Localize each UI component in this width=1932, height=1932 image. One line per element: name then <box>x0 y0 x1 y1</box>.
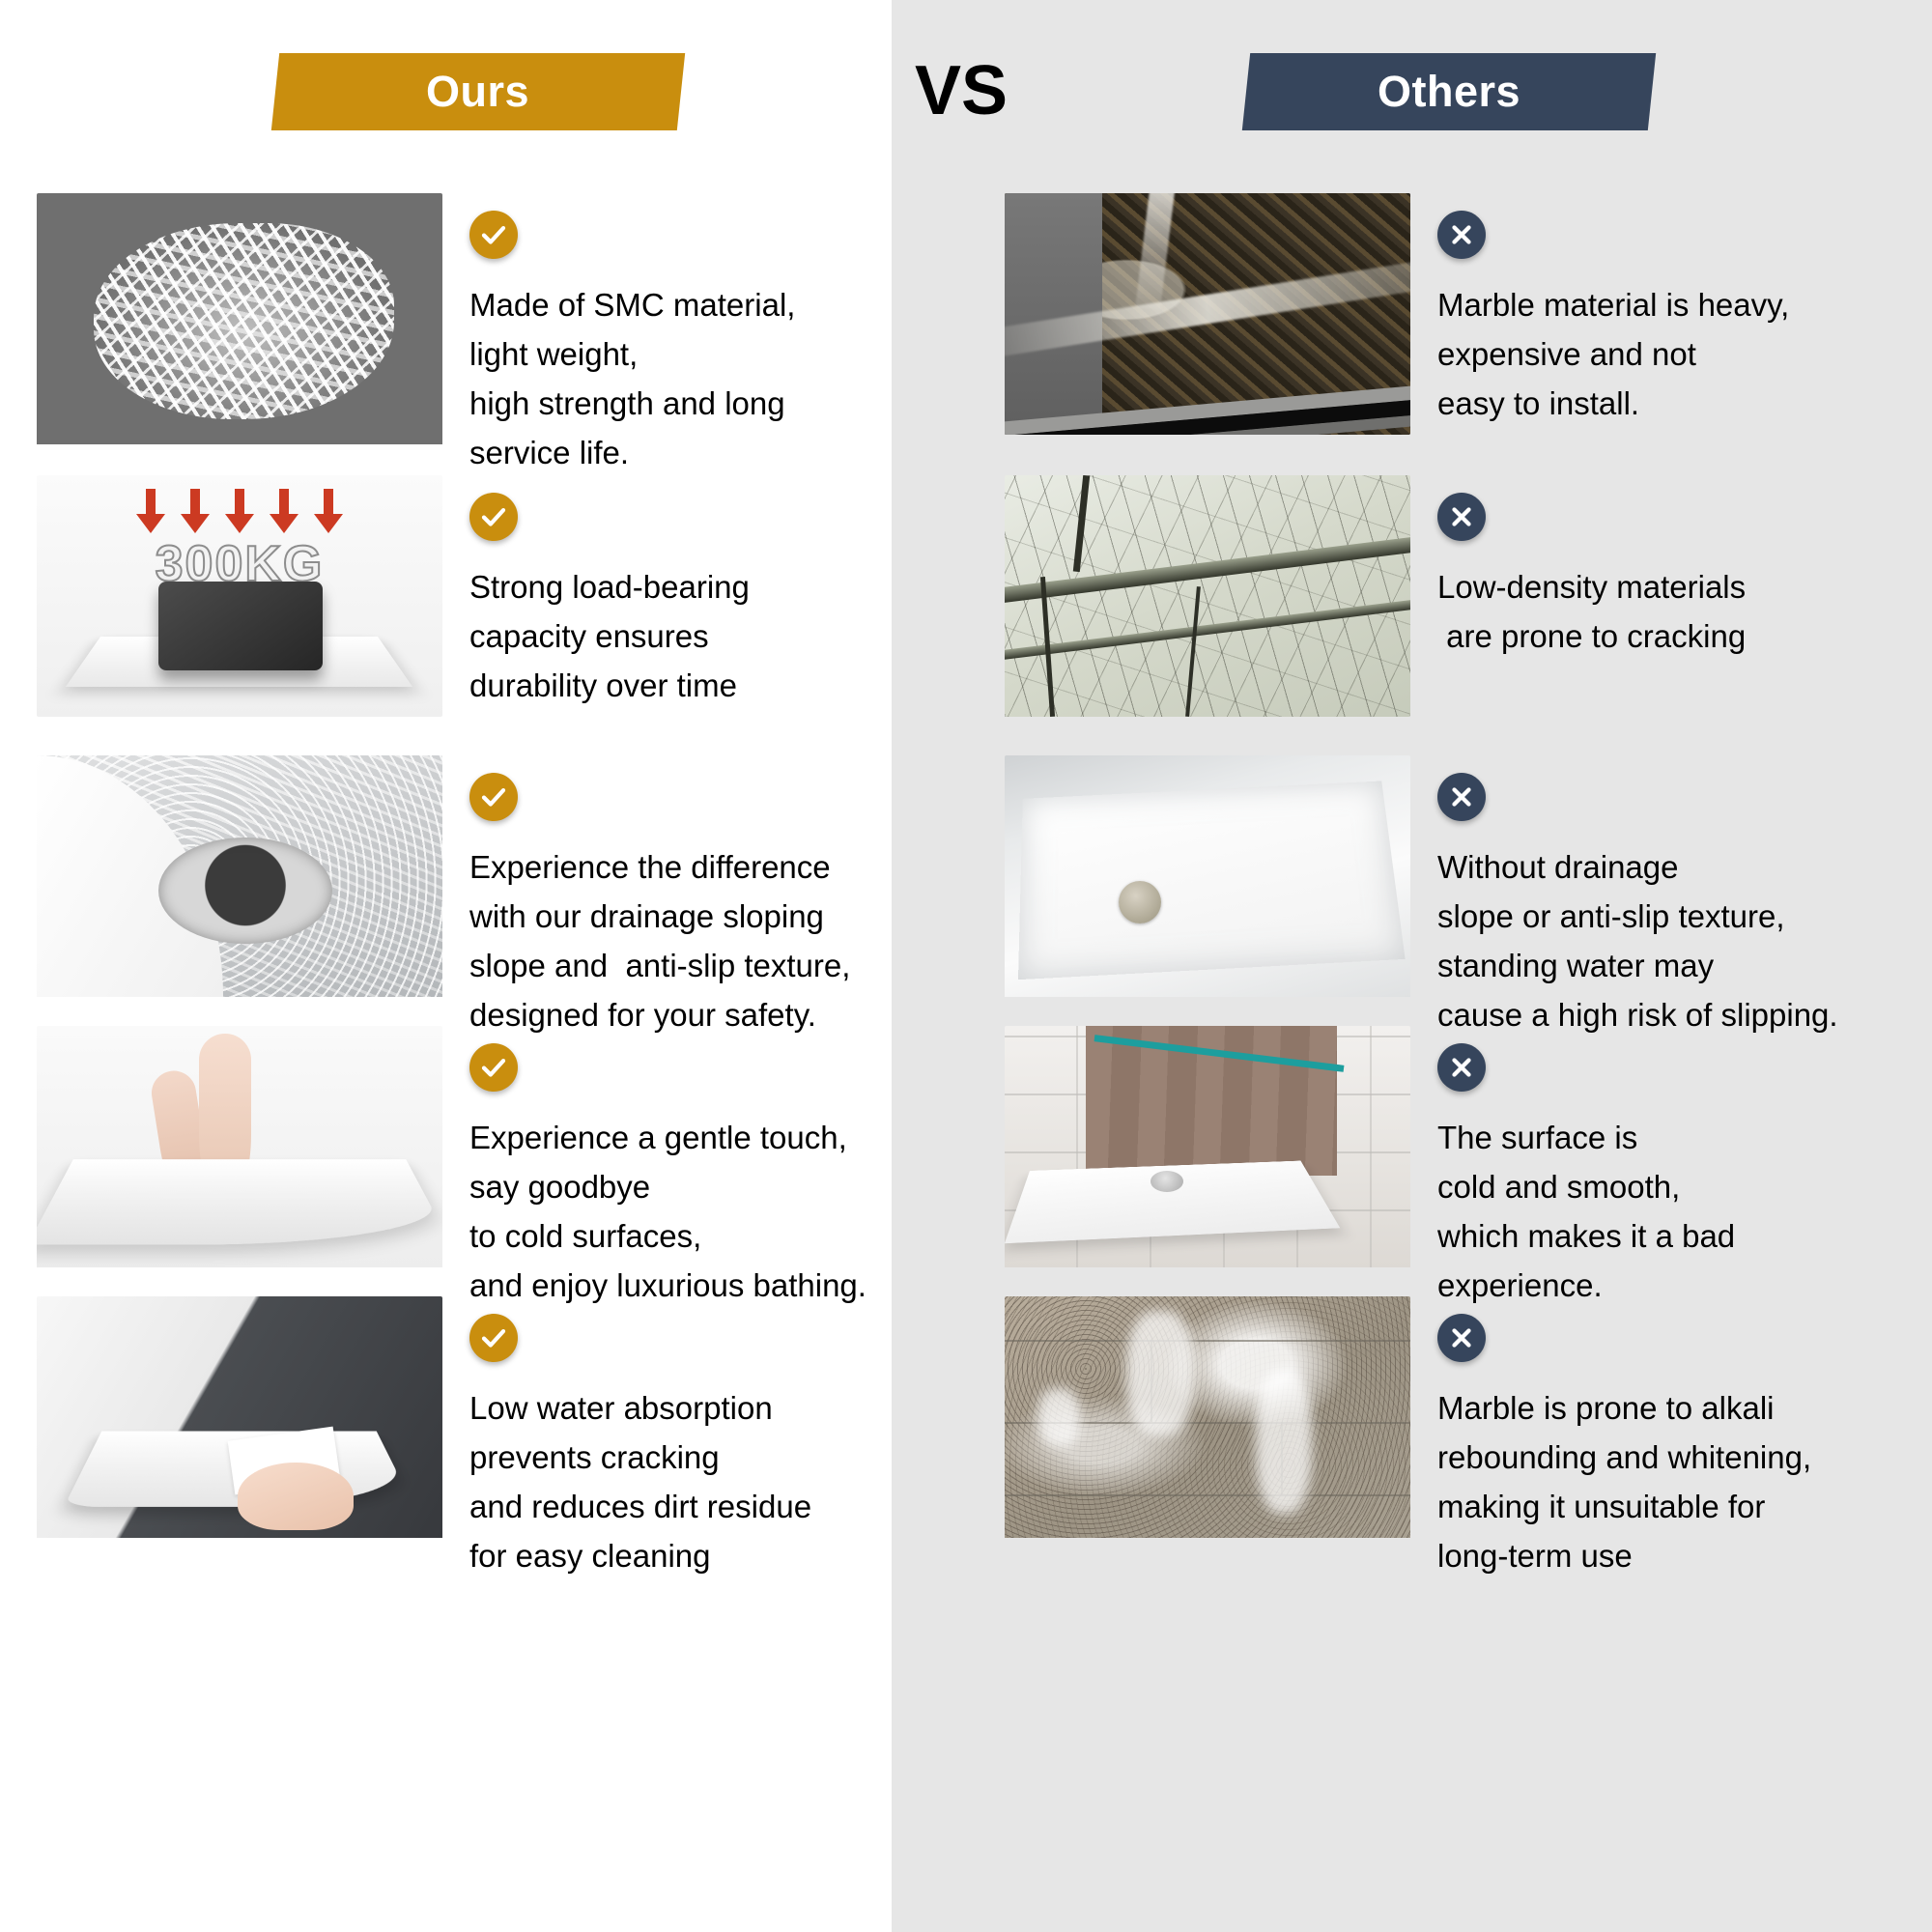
ours-row-caption: Experience the difference with our drain… <box>469 842 850 1039</box>
ours-row-image <box>37 1296 442 1580</box>
ours-cell: 300KG Strong load-bearing capacity ensur… <box>37 475 750 717</box>
comparison-header: Ours VS Others <box>0 0 1932 164</box>
others-cell: Marble material is heavy, expensive and … <box>1005 193 1789 435</box>
ours-row-caption: Experience a gentle touch, say goodbye t… <box>469 1113 867 1310</box>
cross-circle-icon <box>1437 1043 1486 1092</box>
comparison-row: Experience the difference with our drain… <box>0 755 1932 1009</box>
ours-row-image <box>37 755 442 1039</box>
ours-cell: Experience a gentle touch, say goodbye t… <box>37 1026 867 1310</box>
ours-row-caption: Low water absorption prevents cracking a… <box>469 1383 811 1580</box>
others-row-image <box>1005 1296 1410 1580</box>
cross-circle-icon <box>1437 1314 1486 1362</box>
comparison-row: Experience a gentle touch, say goodbye t… <box>0 1026 1932 1279</box>
ours-cell: Experience the difference with our drain… <box>37 755 850 1039</box>
others-cell: Low-density materials are prone to crack… <box>1005 475 1746 717</box>
check-circle-icon <box>469 493 518 541</box>
others-row-image <box>1005 1026 1410 1310</box>
others-row-image <box>1005 193 1410 435</box>
others-banner: Others <box>1242 53 1656 130</box>
vs-label: VS <box>894 46 1029 135</box>
ours-row-image: 300KG <box>37 475 442 717</box>
ours-row-caption: Strong load-bearing capacity ensures dur… <box>469 562 750 710</box>
comparison-row: Low water absorption prevents cracking a… <box>0 1296 1932 1549</box>
others-row-caption: Without drainage slope or anti-slip text… <box>1437 842 1838 1039</box>
cross-circle-icon <box>1437 773 1486 821</box>
others-cell: Marble is prone to alkali rebounding and… <box>1005 1296 1811 1580</box>
others-row-image <box>1005 475 1410 717</box>
others-row-caption: The surface is cold and smooth, which ma… <box>1437 1113 1735 1310</box>
comparison-row: Made of SMC material, light weight, high… <box>0 193 1932 446</box>
ours-banner-label: Ours <box>426 67 529 117</box>
others-row-caption: Marble is prone to alkali rebounding and… <box>1437 1383 1811 1580</box>
cross-circle-icon <box>1437 493 1486 541</box>
check-circle-icon <box>469 1314 518 1362</box>
check-circle-icon <box>469 211 518 259</box>
others-row-image <box>1005 755 1410 1039</box>
ours-banner: Ours <box>271 53 685 130</box>
others-row-caption: Marble material is heavy, expensive and … <box>1437 280 1789 428</box>
ours-row-image <box>37 1026 442 1310</box>
ours-cell: Low water absorption prevents cracking a… <box>37 1296 811 1580</box>
ours-row-image <box>37 193 442 477</box>
ours-row-caption: Made of SMC material, light weight, high… <box>469 280 795 477</box>
others-cell: The surface is cold and smooth, which ma… <box>1005 1026 1735 1310</box>
ours-cell: Made of SMC material, light weight, high… <box>37 193 795 477</box>
check-circle-icon <box>469 1043 518 1092</box>
others-banner-label: Others <box>1378 67 1520 117</box>
others-row-caption: Low-density materials are prone to crack… <box>1437 562 1746 661</box>
cross-circle-icon <box>1437 211 1486 259</box>
others-cell: Without drainage slope or anti-slip text… <box>1005 755 1838 1039</box>
check-circle-icon <box>469 773 518 821</box>
comparison-row: 300KG Strong load-bearing capacity ensur… <box>0 475 1932 728</box>
